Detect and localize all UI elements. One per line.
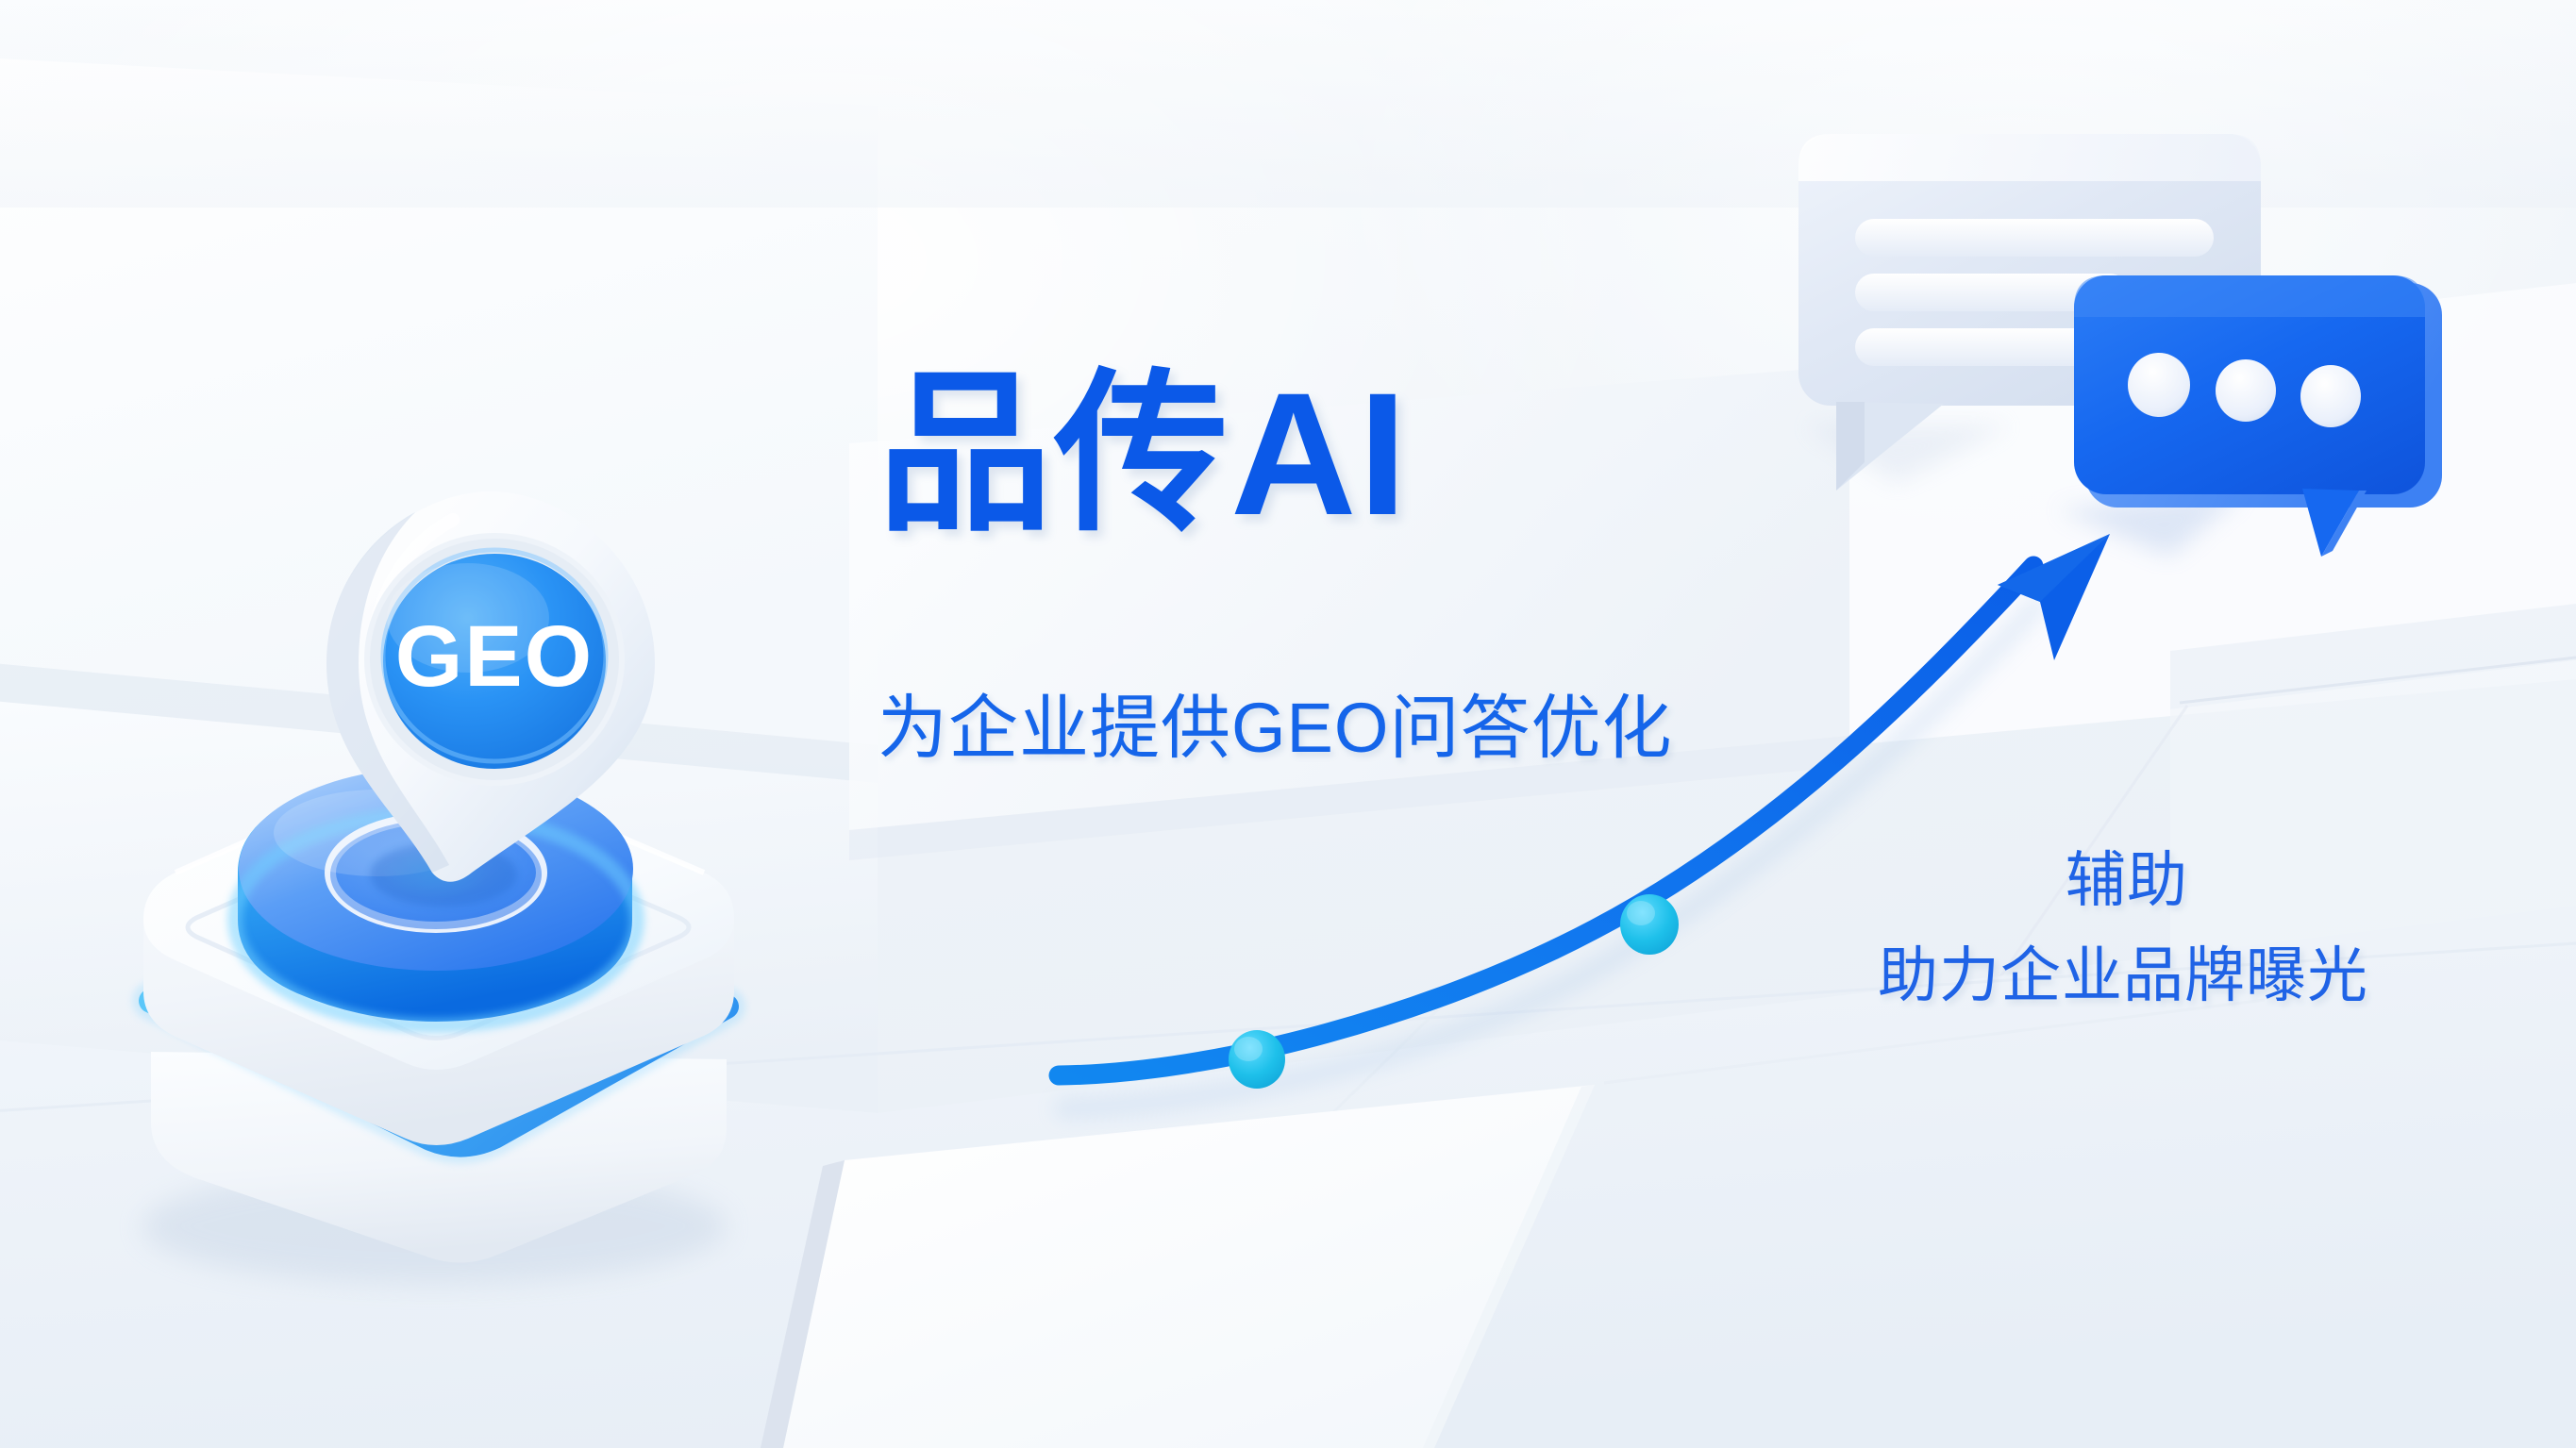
side-caption-line-2: 助力企业品牌曝光 [1812,944,2434,1007]
pin-label: GEO [395,608,594,705]
side-caption-line-1: 辅助 [1812,849,2434,912]
hero-banner: GEO [0,0,2576,1448]
bubble-line-1 [1855,219,2214,257]
page-title: 品传AI [878,368,1409,542]
page-subtitle: 为企业提供GEO问答优化 [878,693,1672,763]
typing-dot-2 [2216,359,2276,422]
side-caption: 辅助 助力企业品牌曝光 [1812,849,2434,1007]
typing-dot-1 [2128,353,2190,417]
chat-bubbles-group [1774,113,2472,604]
typing-dot-3 [2300,365,2361,427]
chat-bubble-typing [2057,275,2442,557]
geo-pin-device: GEO [94,429,811,1278]
bubble-line-3 [1855,328,2110,366]
